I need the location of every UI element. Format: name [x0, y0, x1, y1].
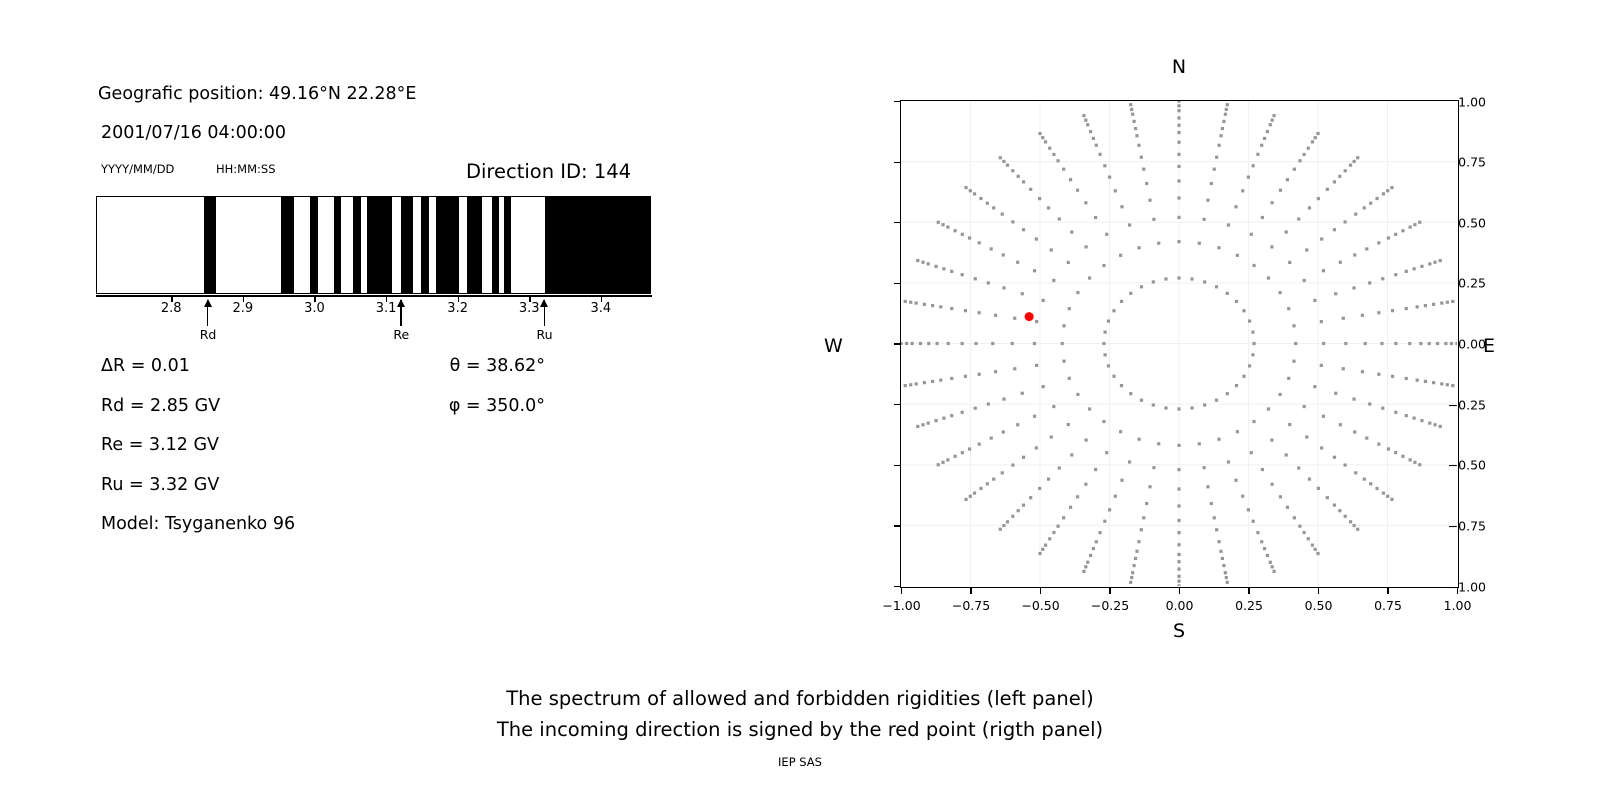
x-axis-tick-mark [1040, 588, 1041, 594]
stat-delta-r: ΔR = 0.01 [101, 356, 190, 376]
x-axis-tick-label: 0.75 [1374, 598, 1402, 613]
marker-label: Ru [537, 327, 553, 342]
x-axis-tick-mark [1109, 588, 1110, 594]
marker-arrowhead [397, 299, 405, 307]
x-axis-tick-mark [901, 588, 902, 594]
x-axis-tick-label: 0.00 [1166, 598, 1194, 613]
marker-label: Re [393, 327, 409, 342]
x-axis-tick-label: 1.00 [1444, 598, 1472, 613]
rigidity-spectrum-panel: Geografic position: 49.16°N 22.28°E 2001… [0, 0, 760, 620]
stat-phi: φ = 350.0° [449, 396, 545, 416]
x-axis-tick-label: −0.25 [1091, 598, 1129, 613]
rigidity-axis-markers: RdReRu [0, 0, 760, 360]
x-axis-tick-label: 0.25 [1235, 598, 1263, 613]
x-axis-ticks: −1.00−0.75−0.50−0.250.000.250.500.751.00 [790, 0, 1600, 660]
caption-line-1: The spectrum of allowed and forbidden ri… [0, 687, 1600, 710]
marker-arrowhead [540, 299, 548, 307]
marker-arrowhead [204, 299, 212, 307]
x-axis-tick-mark [1457, 588, 1458, 594]
x-axis-tick-mark [1318, 588, 1319, 594]
stat-re: Re = 3.12 GV [101, 435, 219, 455]
x-axis-tick-mark [1179, 588, 1180, 594]
x-axis-tick-label: −0.50 [1021, 598, 1059, 613]
x-axis-tick-label: −0.75 [952, 598, 990, 613]
x-axis-tick-mark [1387, 588, 1388, 594]
stat-rd: Rd = 2.85 GV [101, 396, 220, 416]
stat-ru: Ru = 3.32 GV [101, 475, 219, 495]
footer-credit: IEP SAS [0, 755, 1600, 769]
direction-map-panel: N S W E 1.000.750.500.250.00−0.25−0.50−0… [790, 0, 1600, 660]
x-axis-tick-label: 0.50 [1305, 598, 1333, 613]
stat-model: Model: Tsyganenko 96 [101, 514, 295, 534]
x-axis-tick-mark [970, 588, 971, 594]
x-axis-tick-label: −1.00 [882, 598, 920, 613]
caption-line-2: The incoming direction is signed by the … [0, 718, 1600, 741]
stat-theta: θ = 38.62° [450, 356, 545, 376]
x-axis-tick-mark [1248, 588, 1249, 594]
marker-label: Rd [200, 327, 217, 342]
